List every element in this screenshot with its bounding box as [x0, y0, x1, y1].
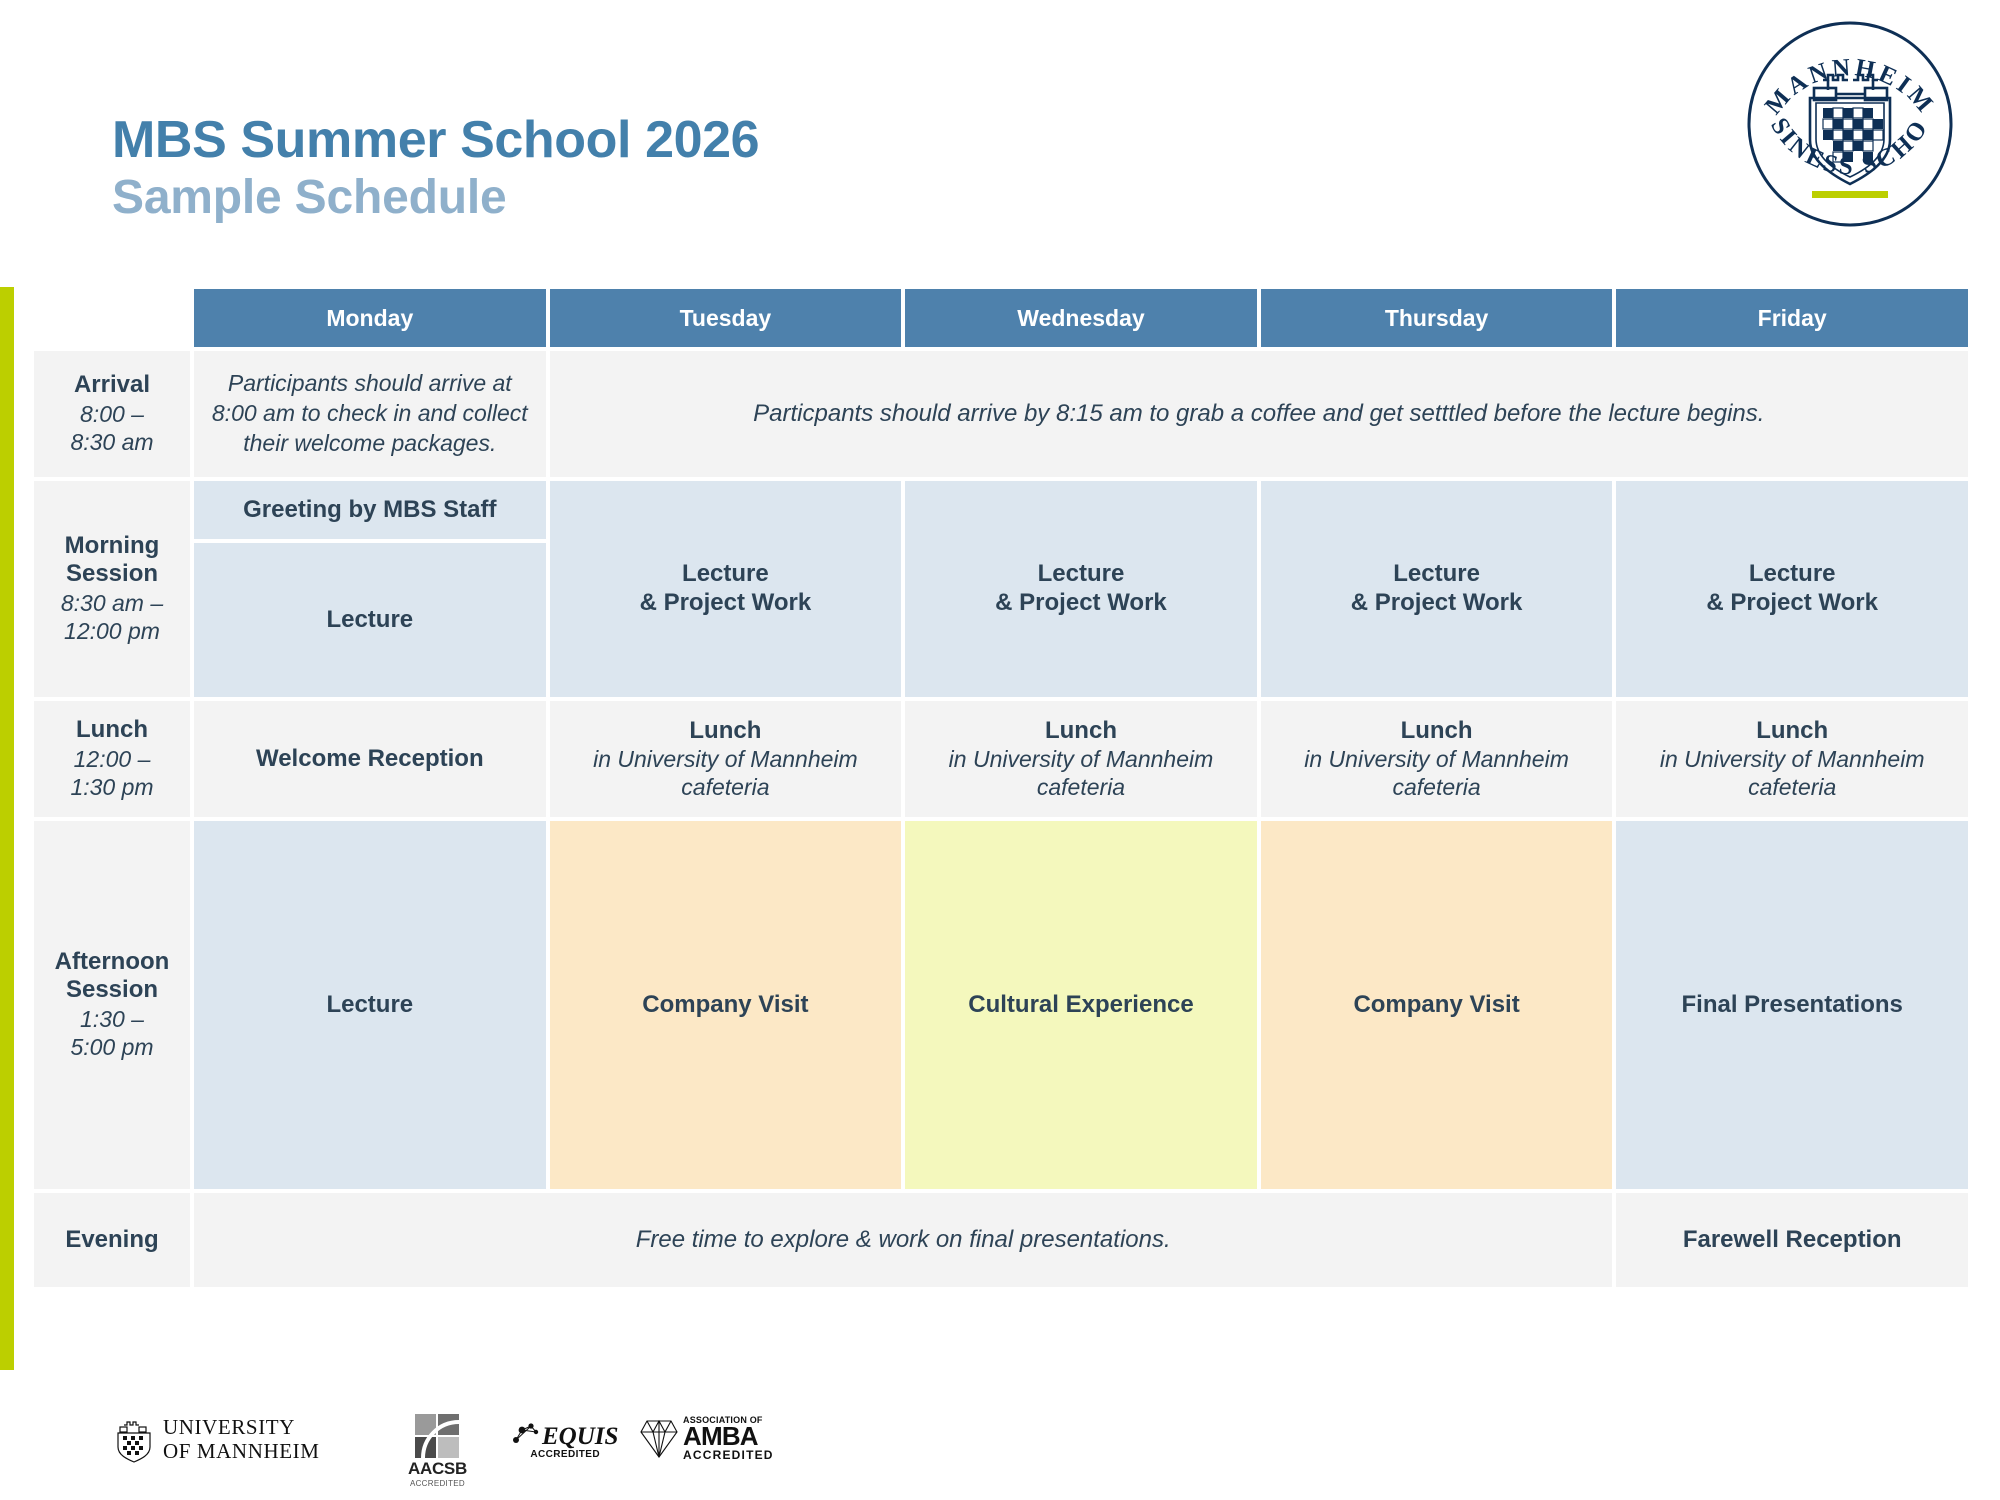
time-label-afternoon-session: Afternoon Session 1:30 – 5:00 pm: [32, 819, 192, 1191]
equis-wordmark: EQUIS: [542, 1426, 618, 1449]
aacsb-wordmark: AACSB: [408, 1459, 467, 1479]
time-label-afternoon-time2: 5:00 pm: [40, 1034, 184, 1062]
cell-afternoon-tuesday-text: Company Visit: [560, 991, 892, 1020]
equis-mark-icon: [512, 1420, 540, 1448]
cell-morning-monday-lecture: Lecture: [192, 541, 548, 699]
table-row-morning-session: Morning Session 8:30 am – 12:00 pm Greet…: [32, 479, 1970, 699]
cell-morning-tuesday-line2: & Project Work: [560, 589, 892, 618]
table-row-lunch: Lunch 12:00 – 1:30 pm Welcome Reception …: [32, 699, 1970, 819]
cell-afternoon-monday-text: Lecture: [204, 991, 536, 1020]
column-header-monday: Monday: [192, 287, 548, 349]
amba-diamond-icon: [638, 1417, 680, 1459]
page-title: MBS Summer School 2026: [112, 112, 759, 168]
cell-morning-friday-line1: Lecture: [1626, 560, 1958, 589]
time-label-arrival-line1: 8:00 –: [40, 401, 184, 429]
uni-line-2: OF MANNHEIM: [163, 1440, 320, 1464]
cell-afternoon-monday: Lecture: [192, 819, 548, 1191]
cell-lunch-friday-place: in University of Mannheim cafeteria: [1626, 745, 1958, 801]
uni-line-1: UNIVERSITY: [163, 1416, 320, 1440]
cell-morning-monday-lecture-text: Lecture: [326, 606, 413, 635]
table-row-afternoon-session: Afternoon Session 1:30 – 5:00 pm Lecture…: [32, 819, 1970, 1191]
table-header-row: Monday Tuesday Wednesday Thursday Friday: [32, 287, 1970, 349]
column-header-thursday: Thursday: [1259, 287, 1615, 349]
footer-accreditation-logos: UNIVERSITY OF MANNHEIM AACSB ACCREDITED: [0, 1408, 2000, 1500]
cell-afternoon-thursday-text: Company Visit: [1271, 991, 1603, 1020]
cell-lunch-monday-text: Welcome Reception: [204, 745, 536, 774]
cell-lunch-thursday-title: Lunch: [1271, 717, 1603, 746]
time-label-afternoon-line1: Afternoon: [40, 948, 184, 976]
cell-lunch-monday: Welcome Reception: [192, 699, 548, 819]
equis-accredited-logo: EQUIS ACCREDITED: [512, 1420, 618, 1460]
aacsb-accredited-label: ACCREDITED: [408, 1479, 467, 1488]
amba-accredited-label: ACCREDITED: [683, 1449, 774, 1461]
time-label-lunch: Lunch 12:00 – 1:30 pm: [32, 699, 192, 819]
column-header-wednesday: Wednesday: [903, 287, 1259, 349]
cell-arrival-span-text: Particpants should arrive by 8:15 am to …: [560, 399, 1958, 429]
cell-afternoon-friday-text: Final Presentations: [1626, 991, 1958, 1020]
time-label-lunch-name: Lunch: [40, 716, 184, 744]
time-label-afternoon-line2: Session: [40, 976, 184, 1004]
amba-wordmark: AMBA: [683, 1425, 774, 1449]
cell-morning-thursday-line1: Lecture: [1271, 560, 1603, 589]
cell-lunch-thursday-place: in University of Mannheim cafeteria: [1271, 745, 1603, 801]
university-of-mannheim-wordmark: UNIVERSITY OF MANNHEIM: [163, 1416, 320, 1463]
cell-lunch-wednesday-title: Lunch: [915, 717, 1247, 746]
cell-morning-tuesday-line1: Lecture: [560, 560, 892, 589]
cell-arrival-monday: Participants should arrive at 8:00 am to…: [192, 349, 548, 479]
column-header-tuesday: Tuesday: [548, 287, 904, 349]
equis-accredited-label: ACCREDITED: [512, 1449, 618, 1460]
time-label-evening-name: Evening: [40, 1226, 184, 1254]
time-label-morning-time2: 12:00 pm: [40, 618, 184, 646]
time-label-morning-session: Morning Session 8:30 am – 12:00 pm: [32, 479, 192, 699]
cell-evening-friday-text: Farewell Reception: [1626, 1226, 1958, 1255]
cell-lunch-tuesday-place: in University of Mannheim cafeteria: [560, 745, 892, 801]
table-row-arrival: Arrival 8:00 – 8:30 am Participants shou…: [32, 349, 1970, 479]
time-label-evening: Evening: [32, 1191, 192, 1289]
cell-morning-monday-greeting: Greeting by MBS Staff: [192, 479, 548, 541]
cell-evening-mon-thu-note: Free time to explore & work on final pre…: [192, 1191, 1614, 1289]
green-accent-bar: [0, 287, 14, 1370]
time-label-morning-time1: 8:30 am –: [40, 590, 184, 618]
time-label-afternoon-time1: 1:30 –: [40, 1006, 184, 1034]
time-label-arrival-name: Arrival: [40, 371, 184, 399]
cell-lunch-friday: Lunch in University of Mannheim cafeteri…: [1614, 699, 1970, 819]
cell-morning-thursday: Lecture & Project Work: [1259, 479, 1615, 699]
time-label-arrival: Arrival 8:00 – 8:30 am: [32, 349, 192, 479]
cell-lunch-friday-title: Lunch: [1626, 717, 1958, 746]
cell-arrival-tue-fri-note: Particpants should arrive by 8:15 am to …: [548, 349, 1970, 479]
time-label-arrival-line2: 8:30 am: [40, 429, 184, 457]
cell-morning-friday: Lecture & Project Work: [1614, 479, 1970, 699]
cell-lunch-tuesday: Lunch in University of Mannheim cafeteri…: [548, 699, 904, 819]
cell-lunch-tuesday-title: Lunch: [560, 717, 892, 746]
cell-morning-monday: Greeting by MBS Staff Lecture: [192, 479, 548, 699]
time-label-morning-line2: Session: [40, 560, 184, 588]
cell-afternoon-thursday: Company Visit: [1259, 819, 1615, 1191]
time-label-lunch-line2: 1:30 pm: [40, 774, 184, 802]
time-label-morning-line1: Morning: [40, 532, 184, 560]
header-corner-blank: [32, 287, 192, 349]
cell-morning-wednesday: Lecture & Project Work: [903, 479, 1259, 699]
university-of-mannheim-logo: UNIVERSITY OF MANNHEIM: [112, 1416, 320, 1464]
cell-morning-friday-line2: & Project Work: [1626, 589, 1958, 618]
cell-afternoon-tuesday: Company Visit: [548, 819, 904, 1191]
cell-morning-tuesday: Lecture & Project Work: [548, 479, 904, 699]
cell-morning-wednesday-line1: Lecture: [915, 560, 1247, 589]
page-header: MBS Summer School 2026 Sample Schedule M…: [0, 0, 2000, 285]
cell-afternoon-friday: Final Presentations: [1614, 819, 1970, 1191]
cell-evening-friday: Farewell Reception: [1614, 1191, 1970, 1289]
cell-morning-wednesday-line2: & Project Work: [915, 589, 1247, 618]
title-block: MBS Summer School 2026 Sample Schedule: [112, 112, 759, 225]
cell-lunch-wednesday: Lunch in University of Mannheim cafeteri…: [903, 699, 1259, 819]
time-label-lunch-line1: 12:00 –: [40, 746, 184, 774]
table-row-evening: Evening Free time to explore & work on f…: [32, 1191, 1970, 1289]
column-header-friday: Friday: [1614, 287, 1970, 349]
mbs-business-school-logo: MANNHEIM BUSINESS SCHOOL: [1744, 18, 1956, 230]
cell-afternoon-wednesday: Cultural Experience: [903, 819, 1259, 1191]
mannheim-crest-icon: [112, 1416, 156, 1464]
cell-afternoon-wednesday-text: Cultural Experience: [915, 991, 1247, 1020]
cell-morning-thursday-line2: & Project Work: [1271, 589, 1603, 618]
cell-evening-span-text: Free time to explore & work on final pre…: [204, 1225, 1602, 1255]
aacsb-mark-icon: [415, 1414, 459, 1458]
page-subtitle: Sample Schedule: [112, 172, 759, 225]
cell-lunch-wednesday-place: in University of Mannheim cafeteria: [915, 745, 1247, 801]
cell-arrival-monday-text: Participants should arrive at 8:00 am to…: [204, 369, 536, 459]
schedule-table: Monday Tuesday Wednesday Thursday Friday…: [32, 287, 1970, 1289]
cell-morning-monday-greeting-text: Greeting by MBS Staff: [243, 496, 496, 525]
aacsb-accredited-logo: AACSB ACCREDITED: [408, 1414, 467, 1488]
cell-lunch-thursday: Lunch in University of Mannheim cafeteri…: [1259, 699, 1615, 819]
amba-accredited-logo: ASSOCIATION OF AMBA ACCREDITED: [638, 1416, 774, 1461]
